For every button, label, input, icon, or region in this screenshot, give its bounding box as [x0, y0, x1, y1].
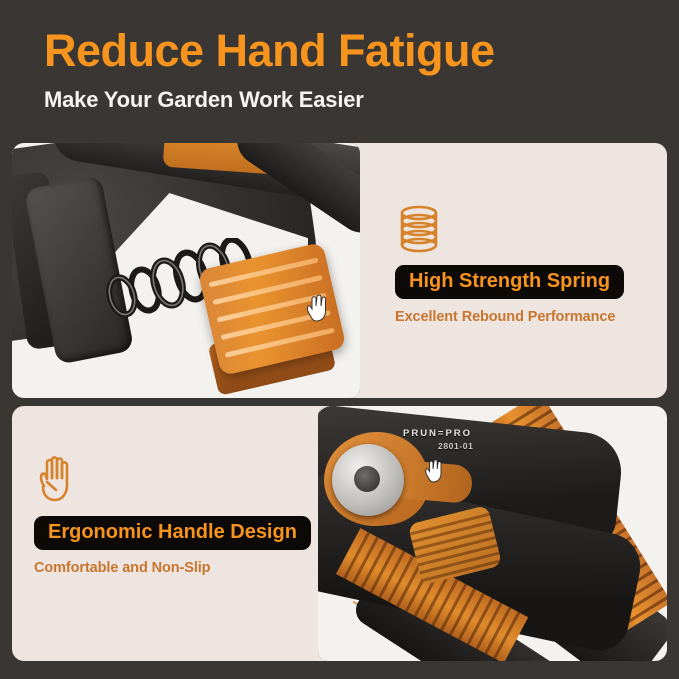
hand-cursor-icon — [423, 458, 445, 484]
spring-icon — [395, 203, 443, 255]
hand-cursor-icon — [304, 293, 330, 323]
feature-info-handle: Ergonomic Handle Design Comfortable and … — [34, 454, 314, 576]
photo-handle-closeup: PRUN=PRO 2801-01 — [318, 406, 667, 661]
feature-panel-spring: High Strength Spring Excellent Rebound P… — [12, 143, 667, 398]
feature-panel-handle: Ergonomic Handle Design Comfortable and … — [12, 406, 667, 661]
feature-info-spring: High Strength Spring Excellent Rebound P… — [395, 203, 655, 325]
infographic-canvas: Reduce Hand Fatigue Make Your Garden Wor… — [0, 0, 679, 679]
open-hand-icon — [34, 454, 80, 506]
photo-spring-closeup — [12, 143, 360, 398]
shear-pivot-bolt-center — [354, 466, 380, 492]
feature-badge-spring: High Strength Spring — [395, 265, 624, 299]
page-title: Reduce Hand Fatigue — [44, 28, 495, 73]
feature-caption-handle: Comfortable and Non-Slip — [34, 560, 314, 576]
brand-logo-text: PRUN=PRO — [403, 428, 472, 439]
model-number-text: 2801-01 — [438, 441, 473, 451]
header: Reduce Hand Fatigue Make Your Garden Wor… — [0, 0, 679, 134]
page-subtitle: Make Your Garden Work Easier — [44, 89, 364, 111]
feature-caption-spring: Excellent Rebound Performance — [395, 309, 655, 325]
feature-badge-handle: Ergonomic Handle Design — [34, 516, 311, 550]
